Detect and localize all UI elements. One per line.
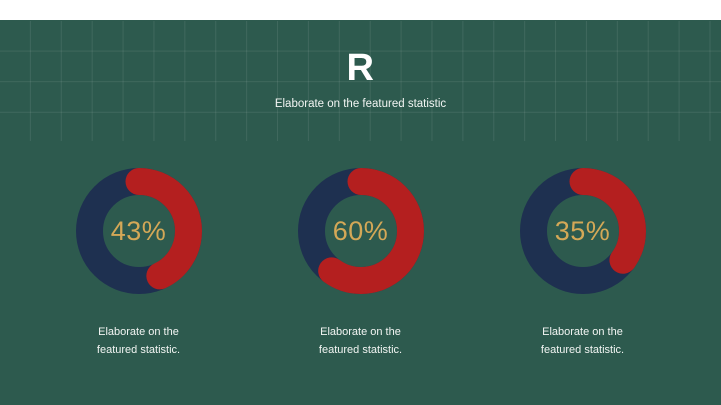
- donut-caption-2: Elaborate on the featured statistic.: [319, 323, 402, 359]
- donut-chart-2: 60%: [298, 168, 424, 294]
- donut-chart-1: 43%: [76, 168, 202, 294]
- donut-chart-item-3: 35% Elaborate on the featured statistic.: [472, 168, 694, 359]
- slide-header: R Elaborate on the featured statistic: [0, 46, 721, 112]
- donut-value-label-1: 43%: [76, 168, 202, 294]
- slide-canvas: R Elaborate on the featured statistic 43…: [0, 0, 721, 405]
- donut-chart-3: 35%: [520, 168, 646, 294]
- donut-chart-item-2: 60% Elaborate on the featured statistic.: [250, 168, 472, 359]
- top-white-strip: [0, 0, 721, 20]
- donut-chart-item-1: 43% Elaborate on the featured statistic.: [28, 168, 250, 359]
- page-title: R: [0, 46, 721, 90]
- donut-value-label-3: 35%: [520, 168, 646, 294]
- donut-caption-1: Elaborate on the featured statistic.: [97, 323, 180, 359]
- donut-charts-row: 43% Elaborate on the featured statistic.…: [0, 168, 721, 359]
- donut-value-label-2: 60%: [298, 168, 424, 294]
- donut-caption-3: Elaborate on the featured statistic.: [541, 323, 624, 359]
- page-subtitle: Elaborate on the featured statistic: [0, 97, 721, 112]
